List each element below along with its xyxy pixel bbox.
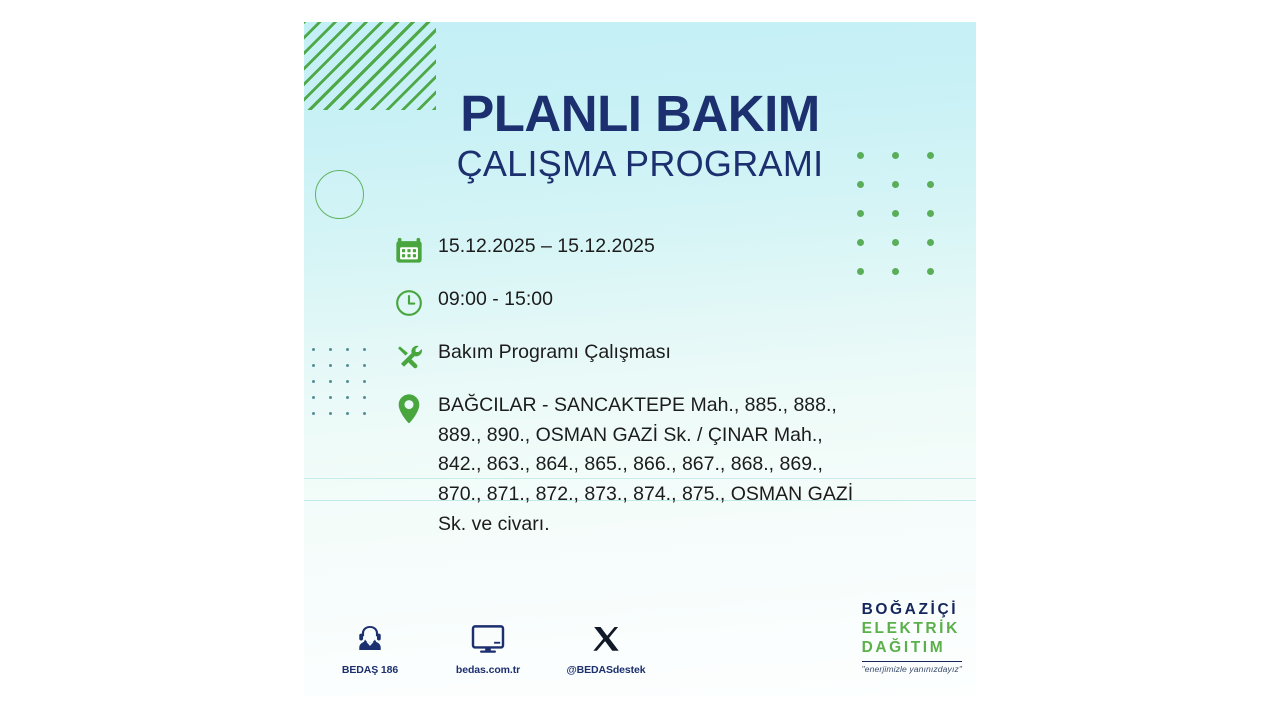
contact-website-label: bedas.com.tr	[456, 664, 520, 676]
contact-x-social[interactable]: @BEDASdestek	[564, 620, 648, 678]
decorative-dot	[927, 210, 934, 217]
decorative-dot	[892, 268, 899, 275]
maintenance-address: BAĞCILAR - SANCAKTEPE Mah., 885., 888., …	[438, 391, 868, 539]
maintenance-date-range: 15.12.2025 – 15.12.2025	[438, 232, 655, 262]
contact-phone[interactable]: BEDAŞ 186	[328, 620, 412, 678]
decorative-dot	[892, 210, 899, 217]
decorative-dot	[927, 268, 934, 275]
maintenance-announcement-card: PLANLI BAKIM ÇALIŞMA PROGRAMI	[304, 22, 976, 696]
brand-line-elektrik: ELEKTRİK	[862, 620, 962, 639]
decorative-dot	[312, 364, 315, 367]
decorative-dot	[312, 348, 315, 351]
decorative-dot	[857, 210, 864, 217]
footer-contact-bar: BEDAŞ 186 bedas.com.tr	[328, 620, 648, 678]
decorative-dot	[892, 239, 899, 246]
maintenance-details-list: 15.12.2025 – 15.12.2025 09:00 - 15:00	[392, 232, 892, 539]
page-title: PLANLI BAKIM	[304, 87, 976, 140]
monitor-icon	[446, 620, 530, 654]
decorative-dot	[346, 396, 349, 399]
decorative-dot	[346, 380, 349, 383]
location-pin-icon	[392, 392, 426, 426]
decorative-dot	[363, 396, 366, 399]
decorative-dot	[346, 412, 349, 415]
maintenance-time-range: 09:00 - 15:00	[438, 285, 553, 315]
decorative-dot	[312, 412, 315, 415]
decorative-dot	[312, 380, 315, 383]
dot-grid-decoration-left	[312, 348, 380, 428]
page-subtitle: ÇALIŞMA PROGRAMI	[304, 144, 976, 184]
bedas-brand-logo: BOĞAZİÇİ ELEKTRİK DAĞITIM "enerjimizle y…	[862, 601, 962, 674]
decorative-dot	[312, 396, 315, 399]
brand-divider	[862, 661, 962, 662]
decorative-dot	[927, 239, 934, 246]
clock-icon	[392, 286, 426, 320]
decorative-dot	[329, 348, 332, 351]
decorative-dot	[329, 380, 332, 383]
decorative-dot	[363, 412, 366, 415]
decorative-dot	[329, 396, 332, 399]
decorative-dot	[346, 348, 349, 351]
contact-website[interactable]: bedas.com.tr	[446, 620, 530, 678]
decorative-dot	[363, 380, 366, 383]
tools-icon	[392, 339, 426, 373]
decorative-dot	[363, 364, 366, 367]
detail-row-address: BAĞCILAR - SANCAKTEPE Mah., 885., 888., …	[392, 391, 892, 539]
decorative-dot	[346, 364, 349, 367]
brand-line-bogazici: BOĞAZİÇİ	[862, 601, 962, 620]
decorative-dot	[329, 364, 332, 367]
maintenance-work-type: Bakım Programı Çalışması	[438, 338, 671, 368]
poster-title-block: PLANLI BAKIM ÇALIŞMA PROGRAMI	[304, 87, 976, 184]
contact-phone-label: BEDAŞ 186	[342, 664, 398, 676]
decorative-dot	[363, 348, 366, 351]
detail-row-time: 09:00 - 15:00	[392, 285, 892, 320]
detail-row-date: 15.12.2025 – 15.12.2025	[392, 232, 892, 267]
call-center-headset-icon	[328, 620, 412, 654]
x-twitter-icon	[564, 620, 648, 654]
screenshot-root: PLANLI BAKIM ÇALIŞMA PROGRAMI	[0, 0, 1280, 720]
brand-line-dagitim: DAĞITIM	[862, 639, 962, 658]
decorative-dot	[329, 412, 332, 415]
calendar-icon	[392, 233, 426, 267]
detail-row-work-type: Bakım Programı Çalışması	[392, 338, 892, 373]
contact-x-label: @BEDASdestek	[566, 664, 645, 676]
brand-tagline: "enerjimizle yanınızdayız"	[862, 664, 962, 674]
